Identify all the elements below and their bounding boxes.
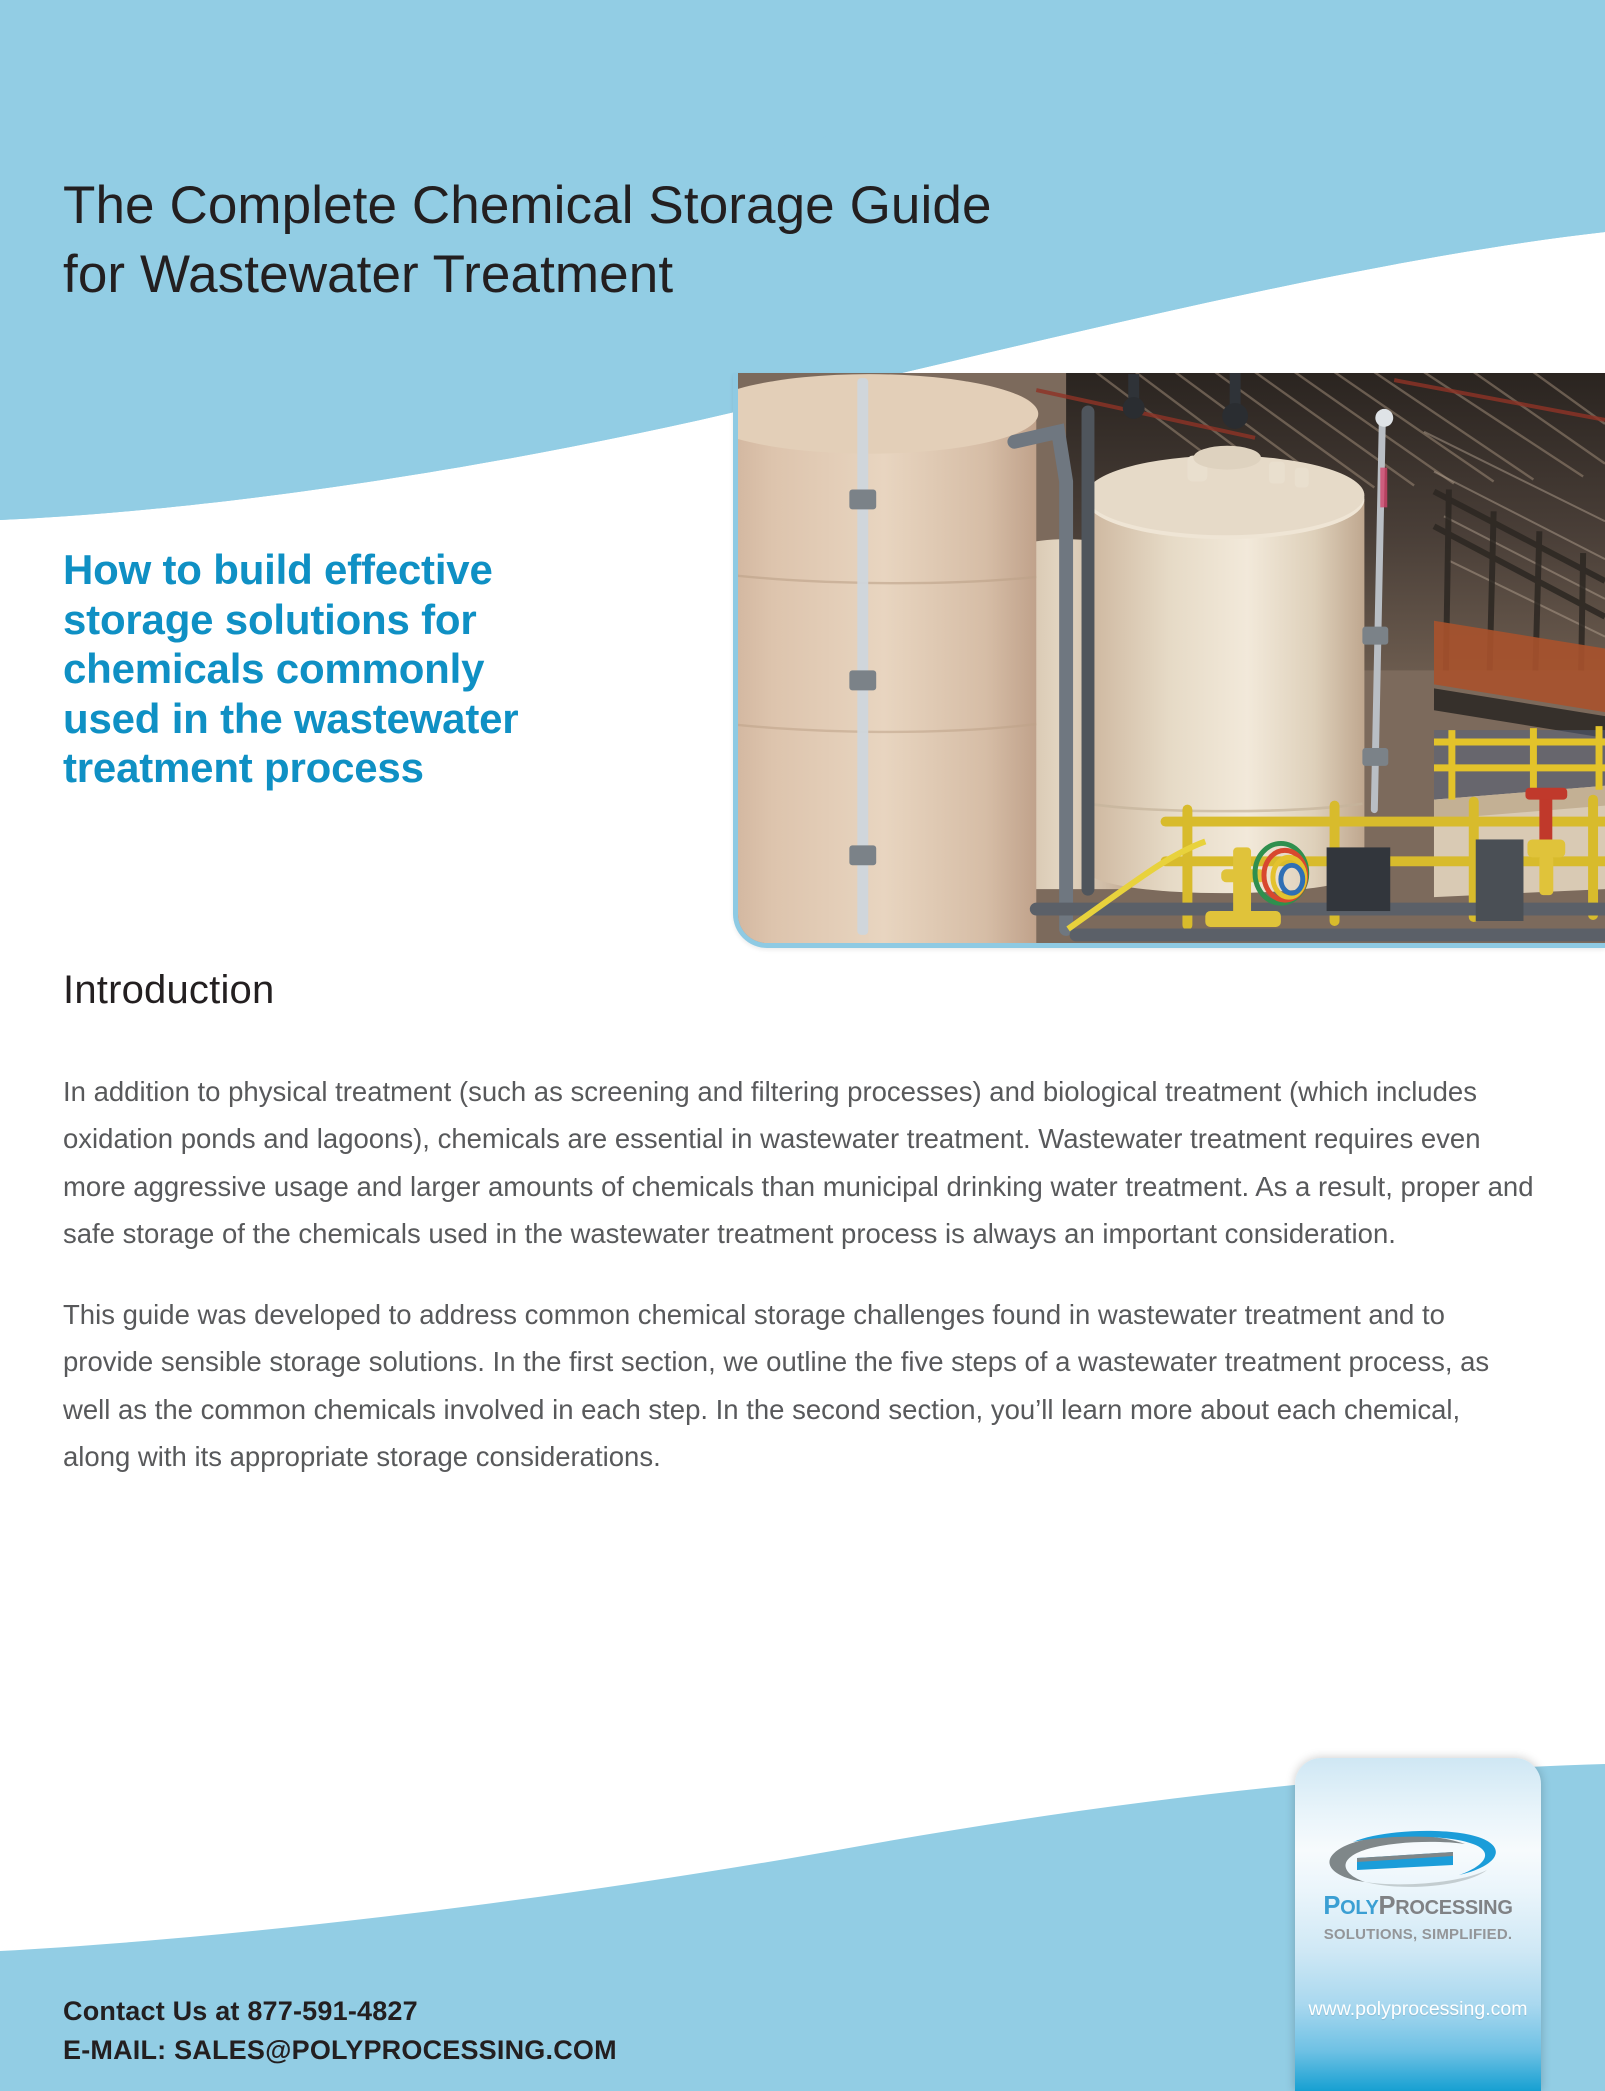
- page-subtitle-line-1: How to build effective: [63, 545, 623, 595]
- logo-wordmark: POLYPROCESSING: [1295, 1892, 1541, 1921]
- logo-word-poly: POLY: [1323, 1892, 1378, 1920]
- hero-photo-image: [738, 373, 1605, 943]
- page-subtitle-line-5: treatment process: [63, 743, 623, 793]
- logo-website-url: www.polyprocessing.com: [1295, 1998, 1541, 2021]
- page-title-line2: for Wastewater Treatment: [63, 241, 1243, 310]
- page-subtitle: How to build effective storage solutions…: [63, 545, 623, 793]
- storage-tanks-illustration: [738, 373, 1605, 943]
- contact-phone: Contact Us at 877-591-4827: [63, 1992, 617, 2031]
- page-root: The Complete Chemical Storage Guide for …: [0, 0, 1605, 2091]
- section-heading-introduction: Introduction: [63, 968, 274, 1013]
- logo-badge: POLYPROCESSING SOLUTIONS, SIMPLIFIED. ww…: [1295, 1758, 1541, 2091]
- page-subtitle-line-4: used in the wastewater: [63, 694, 623, 744]
- page-subtitle-line-2: storage solutions for: [63, 595, 623, 645]
- polyprocessing-swoosh-icon: [1313, 1822, 1523, 1888]
- body-copy: In addition to physical treatment (such …: [63, 1068, 1535, 1514]
- contact-email: E-MAIL: SALES@POLYPROCESSING.COM: [63, 2031, 617, 2070]
- logo-word-processing: PROCESSING: [1379, 1892, 1513, 1920]
- page-subtitle-line-3: chemicals commonly: [63, 644, 623, 694]
- page-title-line1: The Complete Chemical Storage Guide: [63, 176, 992, 235]
- body-paragraph-2: This guide was developed to address comm…: [63, 1291, 1535, 1480]
- body-paragraph-1: In addition to physical treatment (such …: [63, 1068, 1535, 1257]
- hero-photo: [733, 373, 1605, 948]
- page-title: The Complete Chemical Storage Guide for …: [63, 172, 1243, 310]
- logo-tagline: SOLUTIONS, SIMPLIFIED.: [1295, 1926, 1541, 1943]
- footer-contact: Contact Us at 877-591-4827 E-MAIL: SALES…: [63, 1992, 617, 2070]
